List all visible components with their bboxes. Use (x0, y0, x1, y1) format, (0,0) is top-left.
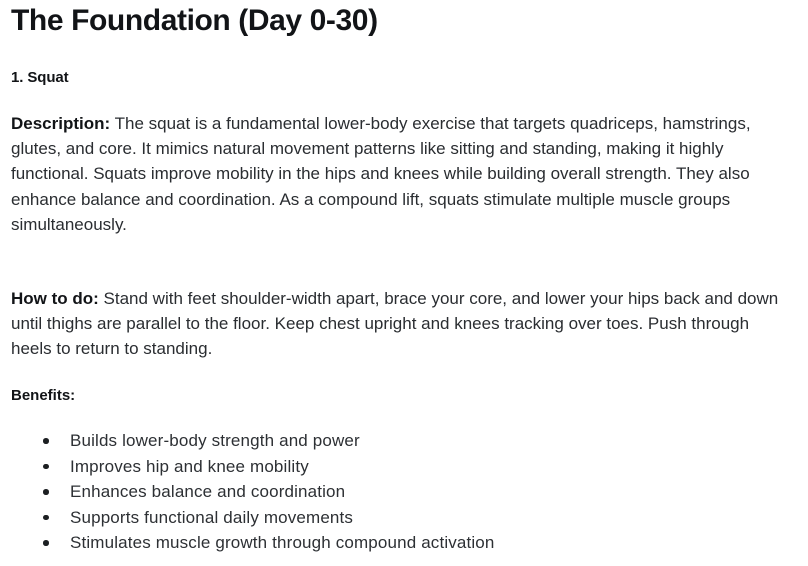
bullet-icon (43, 489, 49, 495)
page-title: The Foundation (Day 0-30) (11, 2, 791, 40)
bullet-icon (43, 438, 49, 444)
list-item-label: Enhances balance and coordination (70, 482, 345, 501)
how-to-do-paragraph: How to do: Stand with feet shoulder-widt… (11, 286, 793, 362)
description-paragraph: Description: The squat is a fundamental … (11, 111, 793, 237)
list-item-label: Builds lower-body strength and power (70, 431, 360, 450)
list-item: Builds lower-body strength and power (0, 428, 800, 454)
bullet-icon (43, 515, 49, 521)
description-text: The squat is a fundamental lower-body ex… (11, 114, 751, 234)
how-to-do-text: Stand with feet shoulder-width apart, br… (11, 289, 778, 358)
list-item: Improves hip and knee mobility (0, 454, 800, 480)
benefits-heading: Benefits: (11, 386, 75, 406)
list-item-label: Stimulates muscle growth through compoun… (70, 533, 495, 552)
how-to-do-label: How to do: (11, 289, 99, 308)
list-item-label: Improves hip and knee mobility (70, 457, 309, 476)
benefits-list: Builds lower-body strength and power Imp… (0, 428, 800, 556)
list-item: Supports functional daily movements (0, 505, 800, 531)
exercise-heading: 1. Squat (11, 68, 791, 88)
document-page: The Foundation (Day 0-30) 1. Squat Descr… (0, 0, 808, 566)
list-item-label: Supports functional daily movements (70, 508, 353, 527)
list-item: Enhances balance and coordination (0, 479, 800, 505)
bullet-icon (43, 464, 49, 470)
description-label: Description: (11, 114, 110, 133)
list-item: Stimulates muscle growth through compoun… (0, 530, 800, 556)
bullet-icon (43, 540, 49, 546)
